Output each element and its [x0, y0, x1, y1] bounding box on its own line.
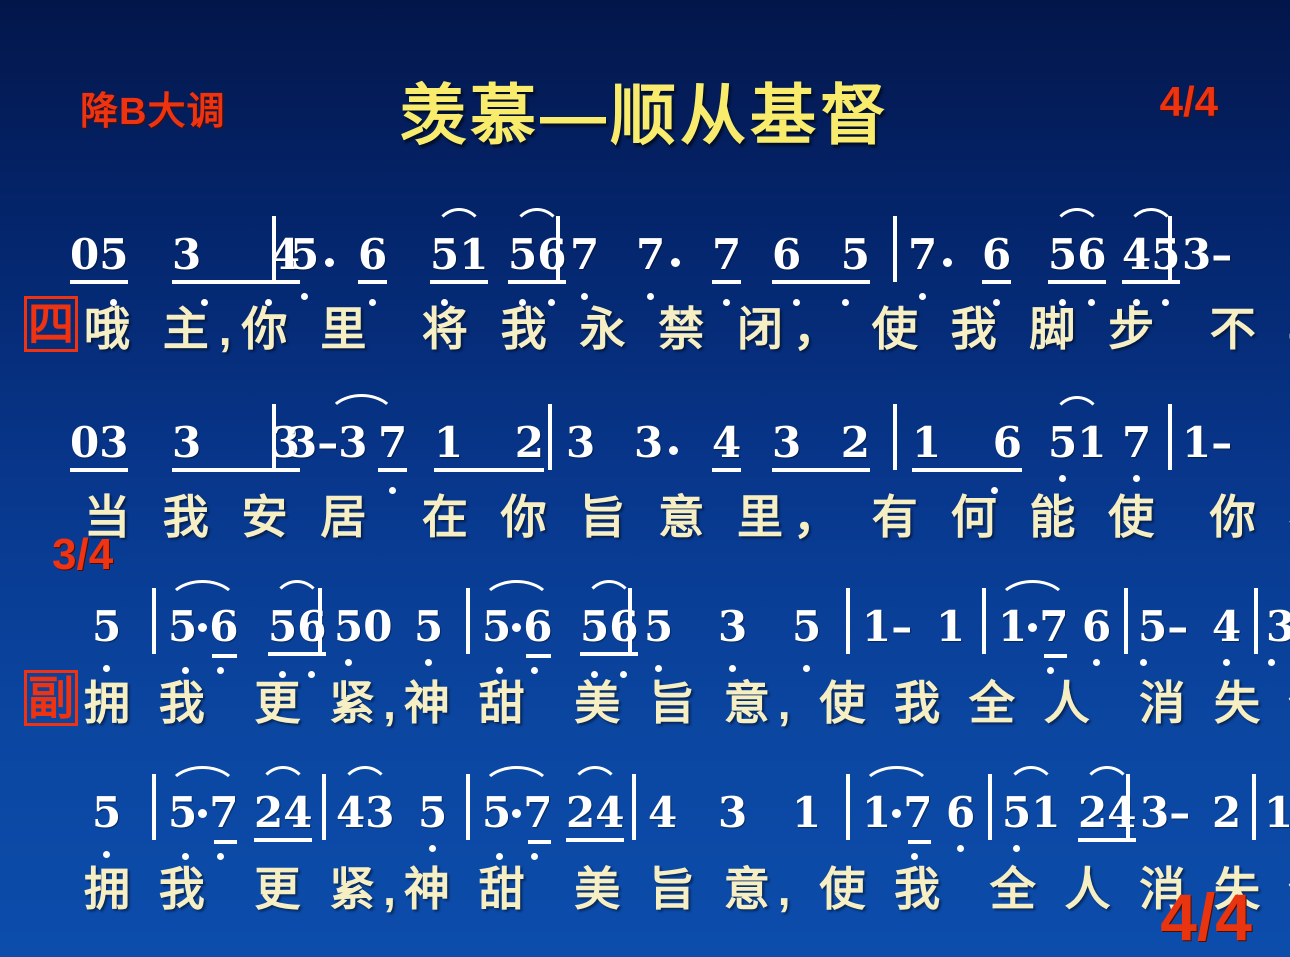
note-group: 5–: [1138, 606, 1188, 648]
barline: [548, 404, 552, 470]
note-group: 34: [172, 234, 300, 276]
barline: [1124, 588, 1128, 654]
note-group: 65: [772, 234, 870, 276]
notes-row-2: 03 33 3–3 7: [0, 378, 1290, 464]
barline: [272, 404, 276, 470]
note-group: 6: [946, 792, 975, 834]
note-group: 7: [712, 234, 741, 276]
note-group: 2: [1212, 792, 1241, 834]
note-group: 17: [862, 792, 931, 834]
note-group: 43: [336, 792, 394, 834]
note-group: 5: [792, 606, 821, 648]
note-group: 3–: [1182, 234, 1232, 276]
note-group: 6: [982, 234, 1011, 276]
notes-row-1: 05 34 5: [0, 190, 1290, 276]
note-group: 51: [1002, 792, 1060, 834]
note-group: 6: [358, 234, 387, 276]
verse-number: 副: [24, 670, 78, 726]
barline: [1168, 216, 1172, 282]
note-group: 57: [482, 792, 551, 834]
lyric-row-4: 拥 我 更 紧,神 甜 美 旨 意, 使 我 全 人 消 失 你 里。: [0, 844, 1290, 914]
barline: [632, 774, 636, 840]
note-group: 1: [936, 606, 965, 648]
barline: [152, 588, 156, 654]
barline: [1168, 404, 1172, 470]
note-group: 32: [772, 422, 870, 464]
time-signature-bottom: 4/4: [1160, 879, 1252, 955]
note-group: 51: [430, 234, 488, 276]
sheet-header: 降B大调 羡慕—顺从基督 4/4: [0, 62, 1290, 152]
barline: [846, 588, 850, 654]
note-group: 5: [418, 792, 447, 834]
note-group: 5: [92, 606, 121, 648]
note-group: 3: [718, 792, 747, 834]
note-group: 05: [70, 234, 128, 276]
note-group: 7: [908, 234, 958, 276]
barline: [1254, 588, 1258, 654]
note-group: 7: [570, 234, 599, 276]
note-group: 12: [434, 422, 544, 464]
note-group: 7: [378, 422, 407, 464]
note-group: 56: [168, 606, 237, 648]
note-group: 1–: [1264, 792, 1290, 834]
note-group: 3: [566, 422, 595, 464]
note-group: 57: [168, 792, 237, 834]
barline: [1126, 774, 1130, 840]
note-group: 24: [254, 792, 312, 834]
note-group: 7: [1122, 422, 1151, 464]
song-sheet: 降B大调 羡慕—顺从基督 4/4 05 34: [0, 0, 1290, 957]
note-group: 16: [912, 422, 1022, 464]
note-group: 33: [172, 422, 300, 464]
note-group: 6: [1082, 606, 1111, 648]
time-signature-top: 4/4: [1160, 78, 1218, 126]
verse-number: 四: [24, 296, 78, 352]
barline: [466, 774, 470, 840]
note-group: 03: [70, 422, 128, 464]
note-group: 1: [792, 792, 821, 834]
barline: [556, 216, 560, 282]
barline: [272, 216, 276, 282]
note-group: 5: [644, 606, 673, 648]
barline: [846, 774, 850, 840]
note-group: 51: [1048, 422, 1106, 464]
note-group: 5: [414, 606, 443, 648]
stave-row-4: 5 57 24: [0, 748, 1290, 914]
note-group: 7: [636, 234, 686, 276]
note-group: 3–: [1140, 792, 1190, 834]
note-group: 4: [648, 792, 677, 834]
lyric-line: 拥 我 更 紧,神 甜 美 旨 意, 使 我 全 人 消 失 你 里；: [84, 678, 1290, 728]
barline: [893, 404, 897, 470]
note-group: 5: [92, 792, 121, 834]
note-group: 4: [712, 422, 741, 464]
lyric-line: 拥 我 更 紧,神 甜 美 旨 意, 使 我 全 人 消 失 你 里。: [84, 864, 1290, 914]
barline: [466, 588, 470, 654]
note-group: 56: [482, 606, 551, 648]
lyric-line: 当 我 安 居 在 你 旨 意 里， 有 何 能 使 你 我 分 离?: [84, 492, 1290, 542]
note-group: 3: [634, 422, 684, 464]
notes-row-4: 5 57 24: [0, 748, 1290, 834]
barline: [988, 774, 992, 840]
note-group: 3–: [1266, 606, 1290, 648]
barline: [628, 588, 632, 654]
note-group: 4: [1212, 606, 1241, 648]
stave-row-3: 5 56 56: [0, 562, 1290, 728]
note-group: 3–3: [288, 422, 367, 464]
note-group: 56: [1048, 234, 1106, 276]
stave-row-2: 03 33 3–3 7: [0, 378, 1290, 542]
lyric-row-2: 当 我 安 居 在 你 旨 意 里， 有 何 能 使 你 我 分 离?: [0, 472, 1290, 542]
note-group: 1–: [1182, 422, 1232, 464]
note-group: 50: [334, 606, 392, 648]
barline: [893, 216, 897, 282]
stave-row-1: 05 34 5: [0, 190, 1290, 354]
lyric-line: 哦 主,你 里 将 我 永 禁 闭， 使 我 脚 步 不 再 随 意；: [84, 304, 1290, 354]
barline: [322, 774, 326, 840]
barline: [318, 588, 322, 654]
notes-row-3: 5 56 56: [0, 562, 1290, 648]
lyric-row-1: 四 哦 主,你 里 将 我 永 禁 闭， 使 我 脚 步 不 再 随 意；: [0, 284, 1290, 354]
note-group: 5: [290, 234, 340, 276]
note-group: 3: [718, 606, 747, 648]
page-title: 羡慕—顺从基督: [0, 62, 1290, 158]
note-group: 1–: [862, 606, 912, 648]
barline: [982, 588, 986, 654]
barline: [1252, 774, 1256, 840]
barline: [152, 774, 156, 840]
note-group: 24: [566, 792, 624, 834]
note-group: 17: [998, 606, 1067, 648]
lyric-row-3: 副 拥 我 更 紧,神 甜 美 旨 意, 使 我 全 人 消 失 你 里；: [0, 658, 1290, 728]
